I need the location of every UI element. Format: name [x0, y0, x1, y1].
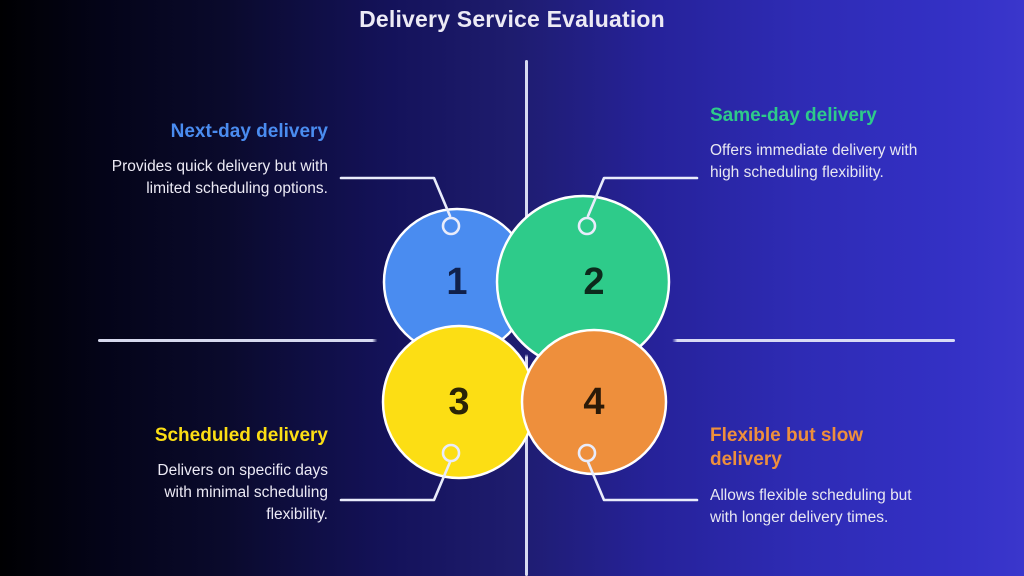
quadrant-bottom-left-heading: Scheduled delivery [138, 424, 328, 448]
quadrant-top-left[interactable]: Next-day delivery Provides quick deliver… [96, 120, 328, 200]
connector-line-2 [588, 178, 697, 216]
connector-line-3 [341, 462, 450, 500]
connector-ring-1 [443, 218, 459, 234]
quadrant-bottom-right-heading: Flexible but slow delivery [710, 424, 925, 473]
quadrant-bottom-left-description: Delivers on specific days with minimal s… [138, 460, 328, 526]
connector-line-4 [588, 462, 697, 500]
quadrant-top-left-description: Provides quick delivery but with limited… [96, 156, 328, 200]
quadrant-top-left-heading: Next-day delivery [96, 120, 328, 144]
quadrant-top-right-description: Offers immediate delivery with high sche… [710, 140, 920, 184]
connector-ring-2 [579, 218, 595, 234]
quadrant-bottom-left[interactable]: Scheduled delivery Delivers on specific … [138, 424, 328, 526]
connector-ring-4 [579, 445, 595, 461]
quadrant-top-right[interactable]: Same-day delivery Offers immediate deliv… [710, 104, 920, 184]
connector-ring-3 [443, 445, 459, 461]
quadrant-bottom-right-description: Allows flexible scheduling but with long… [710, 485, 925, 529]
quadrant-top-right-heading: Same-day delivery [710, 104, 920, 128]
infographic-canvas: Delivery Service Evaluation 1 2 3 4 Next… [0, 0, 1024, 576]
quadrant-bottom-right[interactable]: Flexible but slow delivery Allows flexib… [710, 424, 925, 529]
connector-line-1 [341, 178, 450, 216]
